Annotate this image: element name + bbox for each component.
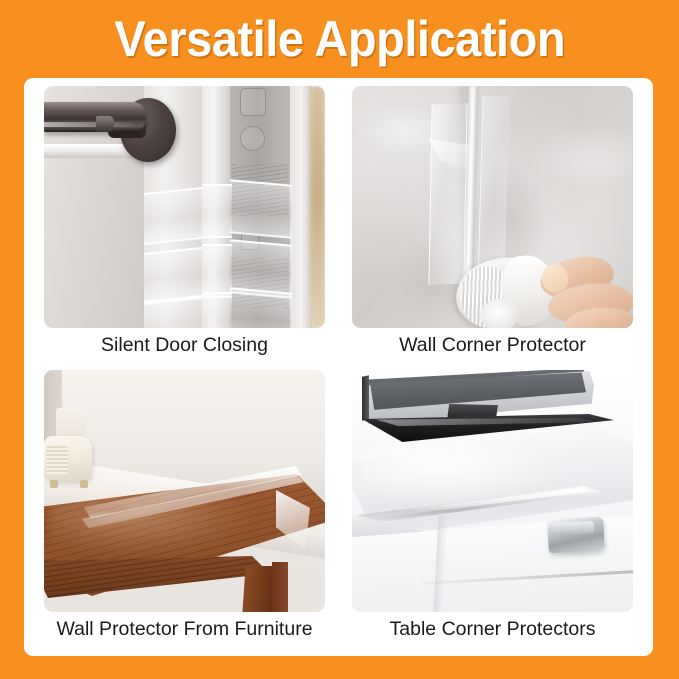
panel-wall-corner-protector[interactable]: Wall Corner Protector: [352, 86, 633, 358]
white-content-card: Silent Door Closing: [24, 78, 653, 656]
cabinet-drawer-handle-inner: [554, 521, 595, 535]
panel-table-corner-protectors[interactable]: Table Corner Protectors: [352, 370, 633, 642]
door-bumper-strip-2-edge: [202, 244, 232, 298]
caption-table-corner-protectors: Table Corner Protectors: [352, 612, 633, 642]
photo-table-corner-protectors: [352, 370, 633, 612]
panel-grid: Silent Door Closing: [44, 86, 633, 648]
desk-speaker-grille: [46, 446, 68, 474]
caption-wall-protector-from-furniture: Wall Protector From Furniture: [44, 612, 325, 642]
door-handle-tip: [96, 116, 114, 132]
door-bumper-strip-3-side: [230, 287, 292, 328]
clear-tape-applied-strip: [428, 103, 467, 284]
photo-wall-protector-from-furniture: [44, 370, 325, 612]
door-bumper-strip-1-side: [230, 179, 292, 238]
door-background-warm-blur: [310, 86, 325, 328]
door-handle-lever: [44, 102, 146, 132]
door-bumper-strip-1-front: [144, 187, 202, 245]
door-jamb: [290, 86, 312, 328]
door-bumper-strip-1-edge: [202, 184, 232, 238]
door-panel-detail-rounded: [240, 88, 266, 116]
desk-speaker-foot-right: [80, 480, 88, 488]
door-bumper-strip-3-edge: [202, 292, 232, 328]
photo-silent-door-closing: [44, 86, 325, 328]
door-handle-highlight: [44, 122, 134, 127]
caption-silent-door-closing: Silent Door Closing: [44, 328, 325, 358]
photo-wall-corner-protector: [352, 86, 633, 328]
title-bar: Versatile Application: [0, 0, 679, 78]
door-bumper-strip-3-front: [144, 295, 202, 328]
door-panel-detail-circle: [240, 126, 265, 151]
product-infographic-poster: Versatile Application: [0, 0, 679, 679]
caption-wall-corner-protector: Wall Corner Protector: [352, 328, 633, 358]
panel-silent-door-closing[interactable]: Silent Door Closing: [44, 86, 325, 358]
desk-speaker-foot-left: [50, 480, 58, 488]
page-title: Versatile Application: [114, 14, 565, 64]
panel-wall-protector-from-furniture[interactable]: Wall Protector From Furniture: [44, 370, 325, 642]
wooden-desk-leg-secondary: [272, 562, 288, 612]
television-left-frame: [362, 375, 369, 420]
